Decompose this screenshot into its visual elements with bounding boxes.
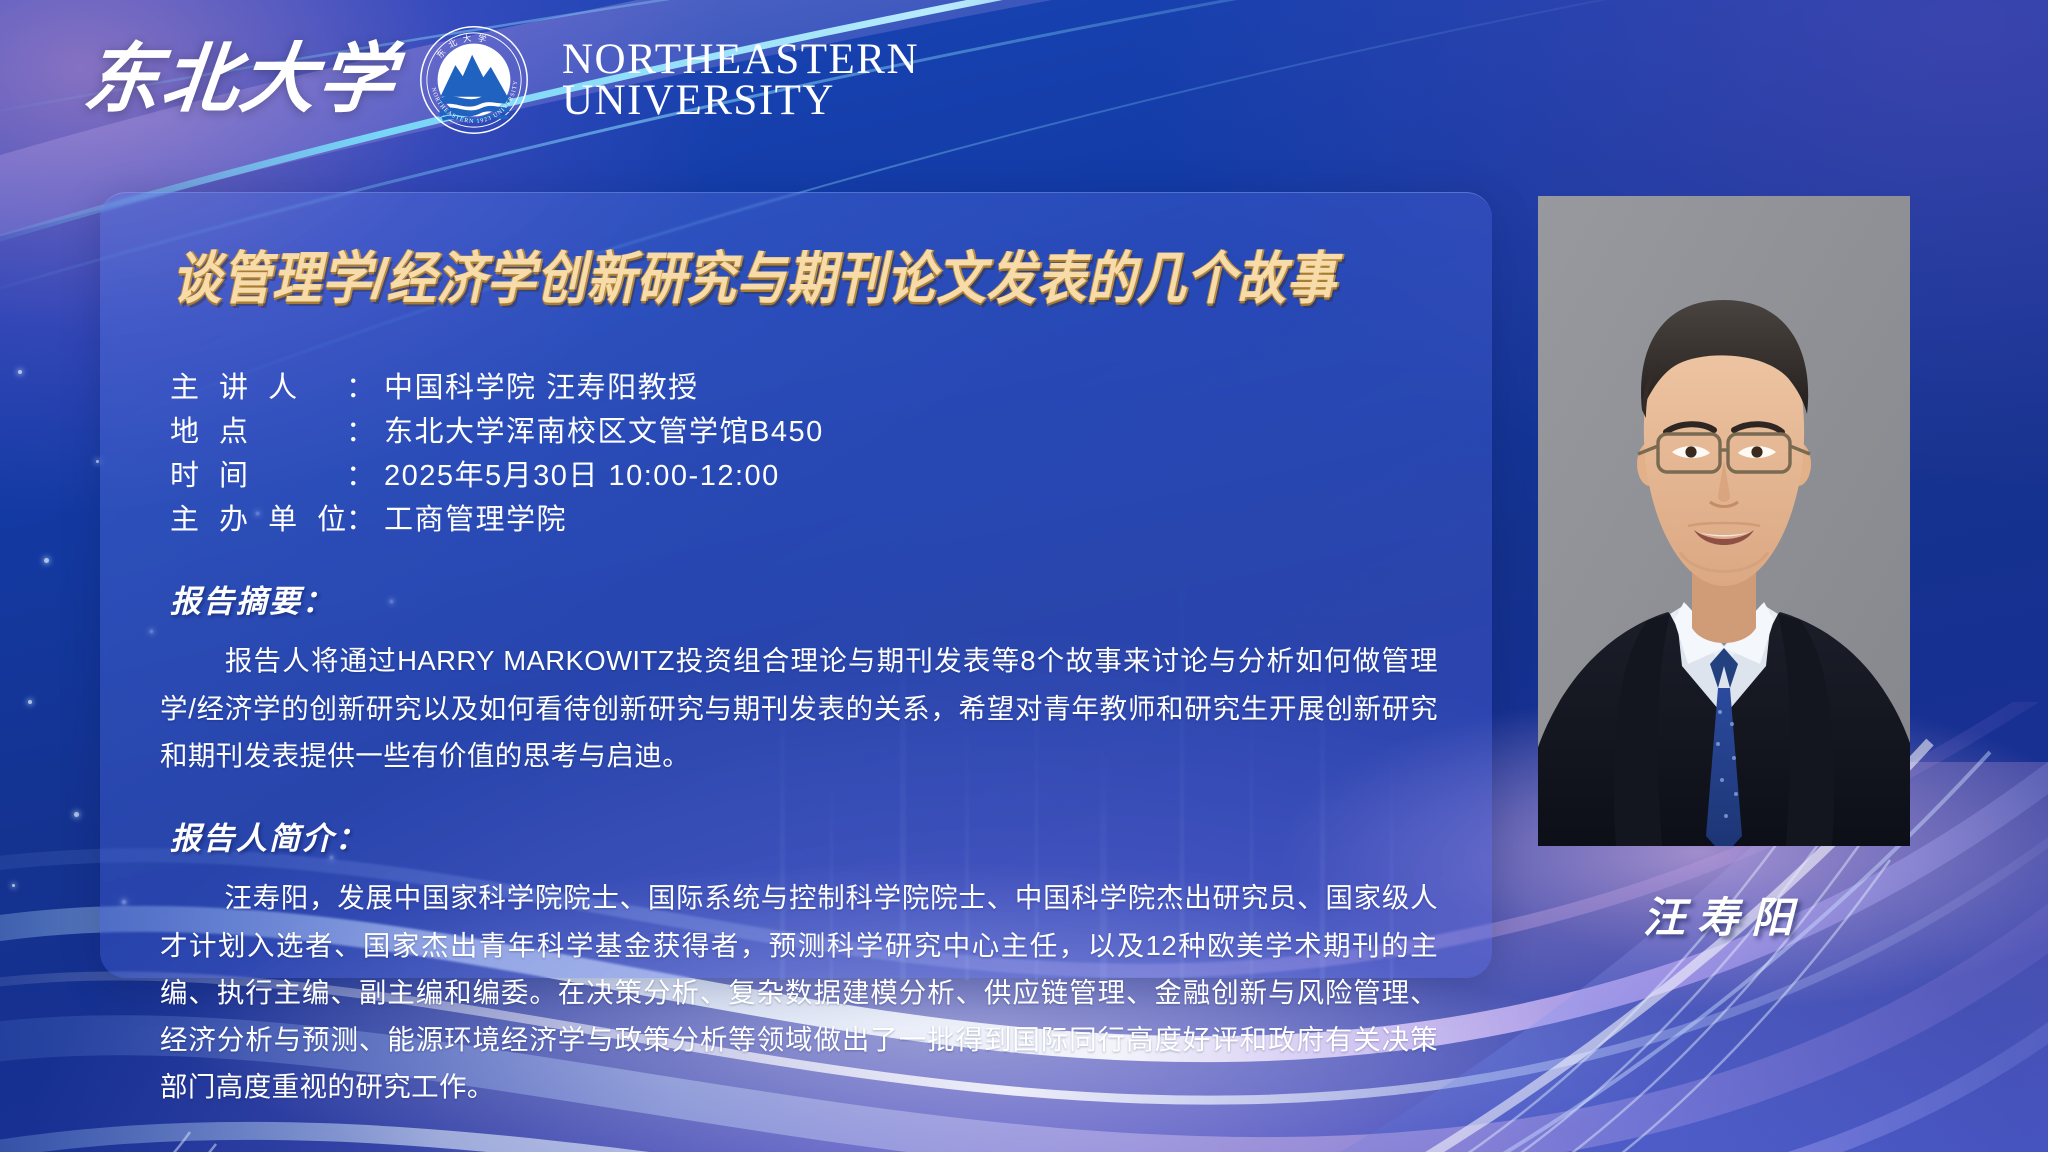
english-wordmark: NORTHEASTERN UNIVERSITY [562, 39, 919, 122]
wordmark-line-northeastern: NORTHEASTERN [562, 39, 919, 80]
lecture-info-list: 主 讲 人 ： 中国科学院 汪寿阳教授 地 点 ： 东北大学浑南校区文管学馆B4… [170, 366, 1444, 542]
info-separator: ： [346, 410, 376, 454]
abstract-body: 报告人将通过HARRY MARKOWITZ投资组合理论与期刊发表等8个故事来讨论… [160, 637, 1438, 779]
info-separator: ： [346, 366, 376, 410]
info-value: 2025年5月30日 10:00-12:00 [384, 454, 780, 498]
abstract-heading: 报告摘要： [170, 576, 1444, 621]
bio-text: 汪寿阳，发展中国家科学院院士、国际系统与控制科学院院士、中国科学院杰出研究员、国… [160, 882, 1438, 1102]
info-row-speaker: 主 讲 人 ： 中国科学院 汪寿阳教授 [170, 366, 1444, 410]
info-value: 中国科学院 汪寿阳教授 [384, 366, 699, 410]
info-label: 主 讲 人 [170, 366, 346, 410]
info-separator: ： [346, 454, 376, 498]
info-separator: ： [346, 498, 376, 542]
bio-heading: 报告人简介： [170, 813, 1444, 858]
info-label: 主 办 单 位 [170, 498, 346, 542]
wordmark-line-university: UNIVERSITY [562, 80, 919, 121]
speaker-name-caption: 汪寿阳 [1538, 884, 1910, 945]
chinese-wordmark: 东北大学 [80, 42, 400, 118]
info-row-location: 地 点 ： 东北大学浑南校区文管学馆B450 [170, 410, 1444, 454]
info-label: 时 间 [170, 454, 346, 498]
northeastern-university-seal-icon: 东 北 大 学 NORTHEASTERN 1923 UNIVERSITY [418, 24, 530, 136]
info-row-organizer: 主 办 单 位 ： 工商管理学院 [170, 498, 1444, 542]
university-logo-row: 东北大学 东 北 大 学 NORTHEASTERN 1923 UNIVERSIT… [84, 24, 919, 136]
content-panel: 谈管理学/经济学创新研究与期刊论文发表的几个故事 主 讲 人 ： 中国科学院 汪… [100, 192, 1492, 978]
bio-body: 汪寿阳，发展中国家科学院院士、国际系统与控制科学院院士、中国科学院杰出研究员、国… [160, 874, 1438, 1110]
info-label: 地 点 [170, 410, 346, 454]
speaker-photo [1538, 196, 1910, 846]
lecture-title: 谈管理学/经济学创新研究与期刊论文发表的几个故事 [172, 233, 1444, 315]
info-value: 工商管理学院 [384, 498, 567, 542]
info-row-time: 时 间 ： 2025年5月30日 10:00-12:00 [170, 454, 1444, 498]
lecture-poster: 东北大学 东 北 大 学 NORTHEASTERN 1923 UNIVERSIT… [0, 0, 2048, 1152]
abstract-text: 报告人将通过HARRY MARKOWITZ投资组合理论与期刊发表等8个故事来讨论… [160, 645, 1438, 771]
info-value: 东北大学浑南校区文管学馆B450 [384, 410, 824, 454]
speaker-portrait-block: 汪寿阳 [1538, 196, 1910, 945]
